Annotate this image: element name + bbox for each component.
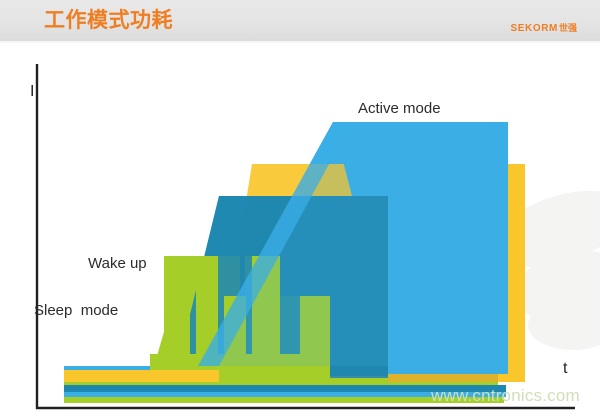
sekorm-logo: SEKORM 世强 — [510, 21, 577, 34]
power-mode-chart: I t Active mode Wake up Sleep mode — [0, 44, 600, 412]
annotation-sleep-mode: Sleep mode — [34, 302, 118, 319]
page-title: 工作模式功耗 — [44, 7, 173, 35]
x-axis-label: t — [563, 360, 567, 378]
annotation-wake-up: Wake up — [88, 255, 147, 272]
logo-chinese-name: 世强 — [559, 21, 577, 34]
chart-plot-svg — [0, 44, 600, 412]
y-axis-label: I — [30, 83, 34, 101]
site-watermark: www.cntronics.com — [431, 386, 580, 406]
slide-canvas: 工作模式功耗 SEKORM 世强 — [0, 0, 600, 412]
annotation-active-mode: Active mode — [358, 100, 441, 117]
logo-wordmark: SEKORM — [510, 23, 558, 34]
